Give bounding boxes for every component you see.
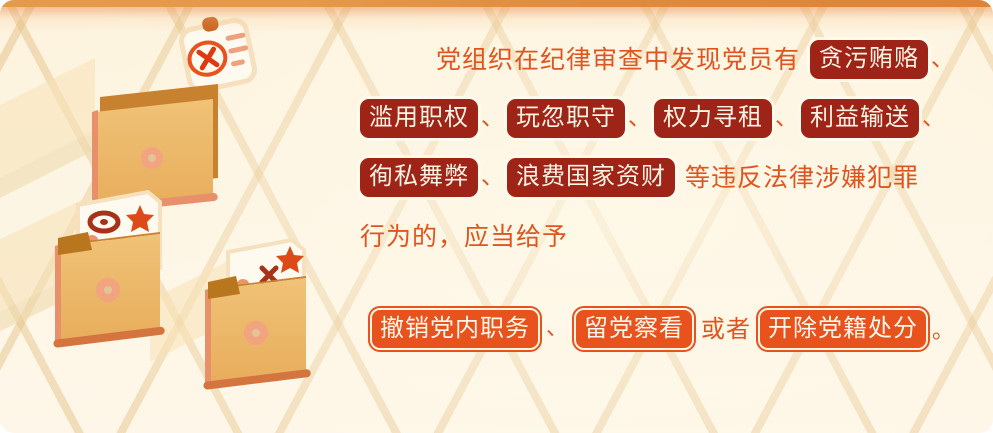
line3-tail-text: 等违反法律涉嫌犯罪 [685, 165, 919, 190]
text-line-3: 徇私舞弊 、 浪费国家资财 等违反法律涉嫌犯罪 [360, 148, 960, 207]
line2-separator-1: 、 [478, 107, 507, 130]
bottom-period: 。 [928, 313, 954, 345]
top-accent-bar [0, 0, 993, 7]
folder-bottom [203, 240, 311, 390]
line1-lead-text: 党组织在纪律审查中发现党员有 [436, 47, 800, 72]
folder-top [90, 10, 257, 214]
poster-root: 党组织在纪律审查中发现党员有 贪污贿赂 、 滥用职权 、 玩忽职守 、 权力寻租… [0, 0, 993, 433]
folders-illustration [0, 0, 380, 433]
badge-lanyongzhiquan[interactable]: 滥用职权 [360, 99, 478, 137]
badge-wanhuzhishou[interactable]: 玩忽职守 [507, 99, 625, 137]
text-line-1: 党组织在纪律审查中发现党员有 贪污贿赂 、 [360, 30, 960, 89]
badge-chexiaodangneizhiwu[interactable]: 撤销党内职务 [370, 308, 540, 350]
text-line-4: 行为的，应当给予 [360, 207, 960, 266]
line2-trailing-separator: 、 [919, 107, 948, 130]
badge-tanwuhuilu[interactable]: 贪污贿赂 [810, 40, 928, 78]
text-line-2: 滥用职权 、 玩忽职守 、 权力寻租 、 利益输送 、 [360, 89, 960, 148]
line1-trailing-separator: 、 [928, 48, 957, 71]
penalty-row: 撤销党内职务 、 留党察看 或者 开除党籍处分 。 [370, 308, 954, 350]
bottom-separator-1: 、 [540, 318, 574, 340]
line2-separator-2: 、 [625, 107, 654, 130]
line4-text: 行为的，应当给予 [360, 224, 568, 249]
badge-langfeiguojiazicai[interactable]: 浪费国家资财 [507, 158, 675, 196]
badge-liudangchakan[interactable]: 留党察看 [574, 308, 694, 350]
badge-kaichudangjichufen[interactable]: 开除党籍处分 [758, 308, 928, 350]
badge-liyishusong[interactable]: 利益输送 [801, 99, 919, 137]
line3-separator-1: 、 [478, 166, 507, 189]
line2-separator-3: 、 [772, 107, 801, 130]
bottom-conjunction: 或者 [694, 317, 758, 341]
main-text-block: 党组织在纪律审查中发现党员有 贪污贿赂 、 滥用职权 、 玩忽职守 、 权力寻租… [360, 30, 960, 266]
doc-top [178, 10, 257, 92]
badge-quanlixunzu[interactable]: 权力寻租 [654, 99, 772, 137]
badge-xusiwubi[interactable]: 徇私舞弊 [360, 158, 478, 196]
